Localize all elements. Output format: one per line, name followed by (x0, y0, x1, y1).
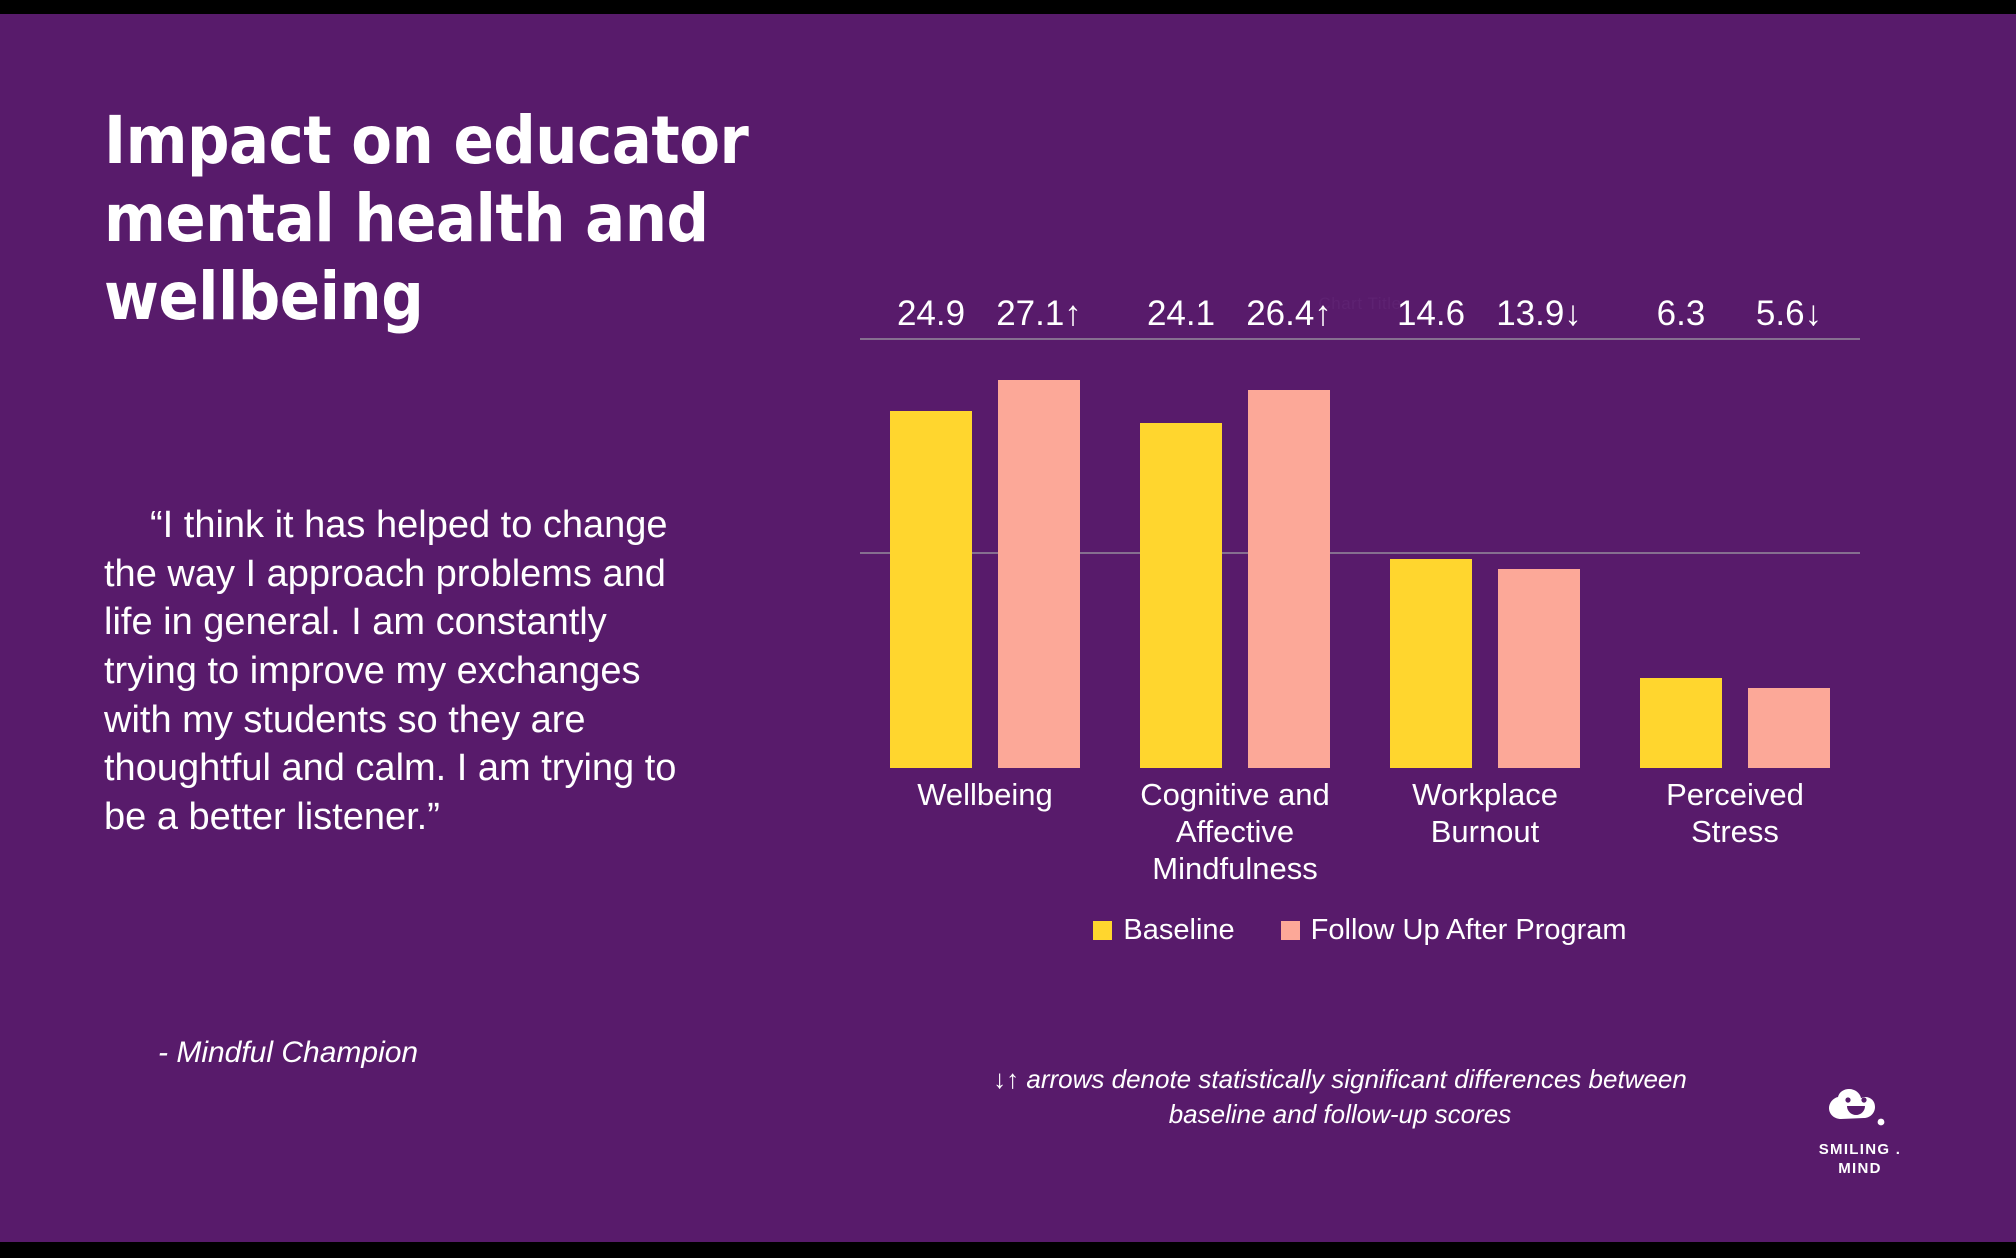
logo-wordmark: SMILING . MIND (1795, 1141, 1925, 1179)
bar-wrapper: 5.6↓ (1748, 338, 1830, 768)
bar-group: 6.35.6↓ (1610, 338, 1860, 768)
bar-value-label: 24.9 (897, 294, 965, 338)
bar-group: 14.613.9↓ (1360, 338, 1610, 768)
bar-baseline[interactable]: 24.9 (890, 411, 972, 768)
bar-wrapper: 26.4↑ (1248, 338, 1330, 768)
bar-value-label: 6.3 (1657, 294, 1706, 338)
footnote-line-1: ↓↑ arrows denote statistically significa… (900, 1062, 1780, 1097)
category-axis-labels: WellbeingCognitive and Affective Mindful… (860, 776, 1860, 888)
bar-baseline[interactable]: 24.1 (1140, 423, 1222, 768)
legend-swatch (1281, 921, 1300, 940)
legend-item[interactable]: Baseline (1093, 914, 1234, 947)
bar-chart: Chart Title 24.927.1↑24.126.4↑14.613.9↓6… (860, 284, 1860, 984)
slide: Impact on educator mental health and wel… (0, 14, 2016, 1242)
category-label: Workplace Burnout (1360, 776, 1610, 888)
chart-footnote: ↓↑ arrows denote statistically significa… (900, 1062, 1780, 1132)
bar-followup[interactable]: 13.9↓ (1498, 569, 1580, 768)
bar-wrapper: 14.6 (1390, 338, 1472, 768)
title-line-2: mental health and (104, 180, 864, 258)
bar-value-label: 14.6 (1397, 294, 1465, 338)
bar-baseline[interactable]: 6.3 (1640, 678, 1722, 768)
legend-label: Follow Up After Program (1311, 914, 1627, 947)
bar-followup[interactable]: 26.4↑ (1248, 390, 1330, 768)
bar-followup[interactable]: 27.1↑ (998, 380, 1080, 768)
cloud-smile-icon (1795, 1089, 1925, 1141)
bar-value-label: 13.9↓ (1496, 294, 1582, 338)
testimonial-quote: “I think it has helped to change the way… (104, 501, 684, 841)
category-label: Wellbeing (860, 776, 1110, 888)
bar-wrapper: 24.9 (890, 338, 972, 768)
legend-swatch (1093, 921, 1112, 940)
bar-followup[interactable]: 5.6↓ (1748, 688, 1830, 768)
bar-group: 24.927.1↑ (860, 338, 1110, 768)
category-label: Cognitive and Affective Mindfulness (1110, 776, 1360, 888)
quote-attribution: - Mindful Champion (158, 1036, 418, 1070)
footnote-line-2: baseline and follow-up scores (900, 1097, 1780, 1132)
logo-line-2: MIND (1795, 1160, 1925, 1179)
bar-groups: 24.927.1↑24.126.4↑14.613.9↓6.35.6↓ (860, 338, 1860, 768)
logo-line-1: SMILING . (1795, 1141, 1925, 1160)
chart-legend: BaselineFollow Up After Program (860, 914, 1860, 947)
bar-value-label: 24.1 (1147, 294, 1215, 338)
title-line-3: wellbeing (104, 258, 864, 336)
bar-group: 24.126.4↑ (1110, 338, 1360, 768)
plot-area: 24.927.1↑24.126.4↑14.613.9↓6.35.6↓ (860, 338, 1860, 768)
bar-value-label: 26.4↑ (1246, 294, 1332, 338)
bar-wrapper: 24.1 (1140, 338, 1222, 768)
bar-wrapper: 13.9↓ (1498, 338, 1580, 768)
legend-item[interactable]: Follow Up After Program (1281, 914, 1627, 947)
bar-wrapper: 27.1↑ (998, 338, 1080, 768)
bar-wrapper: 6.3 (1640, 338, 1722, 768)
page-title: Impact on educator mental health and wel… (104, 102, 864, 336)
bar-value-label: 27.1↑ (996, 294, 1082, 338)
smiling-mind-logo: SMILING . MIND (1795, 1089, 1925, 1179)
category-label: Perceived Stress (1610, 776, 1860, 888)
bar-value-label: 5.6↓ (1756, 294, 1822, 338)
title-line-1: Impact on educator (104, 102, 864, 180)
legend-label: Baseline (1123, 914, 1234, 947)
bar-baseline[interactable]: 14.6 (1390, 559, 1472, 768)
